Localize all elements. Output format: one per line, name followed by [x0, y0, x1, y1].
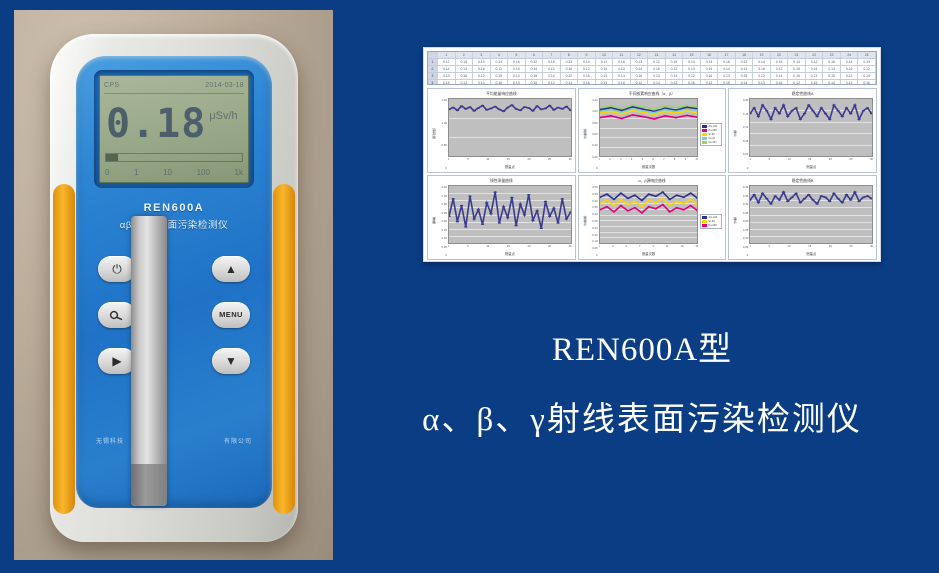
chart-data-point	[565, 106, 568, 108]
chart-data-point	[464, 226, 467, 228]
table-cell[interactable]: 0.16	[683, 80, 701, 85]
table-cell[interactable]: 0.13	[561, 59, 579, 65]
table-cell[interactable]: 0.12	[701, 80, 719, 85]
chart-plot-wrap: 151015202530测量点	[448, 98, 572, 170]
table-row[interactable]: 40.150.120.140.160.130.150.120.140.160.1…	[428, 80, 876, 85]
table-cell[interactable]: 0.14	[683, 59, 701, 65]
table-cell[interactable]: 0.16	[718, 59, 736, 65]
table-cell[interactable]: 0.12	[858, 66, 876, 72]
chart-legend-item: Sr-90	[702, 133, 720, 136]
chart-data-point	[620, 111, 623, 113]
chart-series-line	[449, 105, 571, 111]
chart-data-point	[837, 198, 840, 200]
table-header-cell[interactable]: 4	[491, 52, 509, 58]
chart-data-point	[795, 193, 798, 195]
hand-strap	[131, 216, 167, 506]
chart-data-point	[807, 104, 810, 106]
chart-y-tick: 0.10	[437, 236, 447, 240]
chart-data-point	[782, 191, 785, 193]
table-cell[interactable]: 0.14	[858, 73, 876, 79]
chart-series-line	[750, 105, 872, 119]
chart-series-layer	[750, 186, 872, 243]
table-cell[interactable]: 0.14	[718, 66, 736, 72]
table-cell[interactable]: 0.13	[456, 66, 474, 72]
chart-data-point	[605, 206, 608, 208]
table-header-cell[interactable]: 8	[561, 52, 579, 58]
chart-data-point	[778, 113, 781, 115]
chart-data-point	[548, 215, 551, 217]
table-header-cell[interactable]: 10	[596, 52, 614, 58]
table-cell[interactable]: 4	[428, 80, 438, 85]
chart-data-point	[854, 191, 857, 193]
table-cell[interactable]: 0.13	[596, 80, 614, 85]
chart-data-point	[833, 104, 836, 106]
chart-y-ticks: 1.201.000.800	[437, 98, 448, 170]
chart-x-ticks: 151015202530	[448, 157, 572, 164]
chart-data-point	[661, 191, 664, 193]
table-header-cell[interactable]: 24	[841, 52, 859, 58]
table-cell[interactable]: 0.15	[578, 73, 596, 79]
chart-data-point	[569, 211, 571, 213]
chart-data-point	[626, 204, 629, 206]
chart-x-axis-label: 测量次数	[599, 251, 699, 257]
table-cell[interactable]: 0.13	[788, 59, 806, 65]
table-cell[interactable]: 0.13	[543, 66, 561, 72]
table-header-cell[interactable]	[428, 52, 438, 58]
chart-legend: Am-241Pu-239Sr-90Co-60Cs-137	[700, 123, 722, 146]
table-cell[interactable]: 0.15	[771, 59, 789, 65]
chart-data-point	[609, 105, 612, 107]
chart-data-point	[770, 118, 773, 120]
chart-title: 稳定性曲线A	[732, 91, 873, 98]
table-cell[interactable]: 0.14	[473, 80, 491, 85]
chart-legend-label: Pu-239	[708, 224, 716, 227]
chart-body: 计数0.200.160.120.080.040151015202530测量点	[732, 98, 873, 170]
table-cell[interactable]: 0.13	[596, 73, 614, 79]
table-cell[interactable]: 0.14	[648, 80, 666, 85]
table-cell[interactable]: 0.16	[473, 66, 491, 72]
table-cell[interactable]: 0.13	[701, 59, 719, 65]
table-header-cell[interactable]: 13	[648, 52, 666, 58]
table-cell[interactable]: 0.15	[456, 59, 474, 65]
chart-data-point	[514, 108, 517, 110]
chart-linearity[interactable]: 线性测量曲线偏差0.400.350.300.250.200.150.100.05…	[427, 175, 576, 260]
chart-data-point	[460, 105, 463, 107]
table-cell[interactable]: 0.13	[858, 59, 876, 65]
table-cell[interactable]: 0.12	[666, 66, 684, 72]
lcd-scale-tick: 100	[197, 168, 210, 177]
table-cell[interactable]: 0.16	[788, 73, 806, 79]
chart-data-point	[451, 198, 454, 200]
chart-gridline	[600, 243, 698, 244]
model-title: REN600A型	[352, 322, 932, 370]
chart-data-point	[674, 107, 677, 109]
chart-data-point	[556, 107, 559, 109]
table-cell[interactable]: 0.15	[701, 66, 719, 72]
table-cell[interactable]: 0.13	[438, 73, 456, 79]
chart-data-point	[653, 112, 656, 114]
table-cell[interactable]: 0.12	[753, 73, 771, 79]
search-icon	[109, 310, 125, 321]
table-cell[interactable]: 0.12	[648, 59, 666, 65]
table-cell[interactable]: 0.14	[806, 66, 824, 72]
chart-data-point	[489, 108, 492, 110]
chart-data-point	[786, 116, 789, 118]
chart-multi-nuclide[interactable]: 不同核素响应曲线（α、β）计数率1.201.000.800.600.400.20…	[578, 88, 727, 173]
table-header-cell[interactable]: 2	[456, 52, 474, 58]
table-cell[interactable]: 0.13	[806, 73, 824, 79]
chart-data-point	[824, 113, 827, 115]
table-cell[interactable]: 0.16	[823, 59, 841, 65]
table-cell[interactable]: 0.11	[596, 59, 614, 65]
table-header-cell[interactable]: 23	[823, 52, 841, 58]
chart-data-point	[540, 227, 543, 229]
table-cell[interactable]: 0.15	[736, 73, 754, 79]
table-cell[interactable]: 0.14	[736, 80, 754, 85]
chart-data-point	[668, 211, 671, 213]
chart-data-point	[620, 108, 623, 110]
chart-data-point	[841, 202, 844, 204]
chart-data-point	[799, 118, 802, 120]
table-header-cell[interactable]: 20	[771, 52, 789, 58]
table-cell[interactable]: 0.15	[806, 80, 824, 85]
chart-legend-item: Co-60	[702, 137, 720, 140]
chart-series-layer	[600, 186, 698, 243]
chart-stability-b[interactable]: 稳定性曲线B计数0.400.350.300.250.200.150.100.05…	[728, 175, 877, 260]
chart-data-point	[460, 205, 463, 207]
chart-series-layer	[750, 99, 872, 156]
chart-data-point	[485, 109, 488, 111]
table-cell[interactable]: 0.13	[473, 59, 491, 65]
chart-data-point	[609, 115, 612, 117]
table-cell[interactable]: 0.12	[631, 80, 649, 85]
chart-data-point	[531, 219, 534, 221]
table-cell[interactable]: 0.12	[491, 66, 509, 72]
chart-legend-item: Pu-239	[702, 129, 720, 132]
table-cell[interactable]: 0.15	[788, 66, 806, 72]
table-cell[interactable]: 0.16	[613, 59, 631, 65]
chart-y-tick: 0.05	[437, 245, 447, 249]
table-cell[interactable]: 0.12	[736, 59, 754, 65]
table-header-cell[interactable]: 25	[858, 52, 876, 58]
table-cell[interactable]: 0.15	[823, 73, 841, 79]
chart-data-point	[451, 107, 454, 109]
chart-data-point	[849, 199, 852, 201]
table-cell[interactable]: 0.12	[841, 73, 859, 79]
chart-y-axis-label: 偏差	[431, 185, 437, 257]
chart-x-axis-label: 测量点	[749, 164, 873, 170]
chart-data-point	[689, 192, 692, 194]
table-cell[interactable]: 0.14	[561, 80, 579, 85]
table-row[interactable]: 10.120.150.130.140.160.120.150.130.140.1…	[428, 59, 876, 66]
table-cell[interactable]: 0.12	[578, 66, 596, 72]
chart-y-tick: 0.16	[738, 112, 748, 116]
chart-y-tick: 0.20	[588, 155, 598, 159]
table-header-cell[interactable]: 6	[526, 52, 544, 58]
chart-y-tick: 1.00	[437, 121, 447, 125]
chart-data-point	[544, 201, 547, 203]
chart-series-layer	[600, 99, 698, 156]
chart-title: 平均能量响应曲线	[431, 91, 572, 98]
table-cell[interactable]: 0.15	[543, 59, 561, 65]
table-cell[interactable]: 0.14	[666, 73, 684, 79]
chart-data-point	[786, 200, 789, 202]
chart-data-point	[791, 110, 794, 112]
chart-data-point	[493, 106, 496, 108]
chart-data-point	[498, 109, 501, 111]
table-cell[interactable]: 0.12	[456, 80, 474, 85]
chart-y-ticks: 0.400.350.300.250.200.150.100.050	[738, 185, 749, 257]
table-row[interactable]: 20.140.130.160.120.150.140.130.160.120.1…	[428, 66, 876, 73]
chart-data-point	[803, 113, 806, 115]
chart-data-point	[674, 117, 677, 119]
chart-y-tick: 0.35	[588, 205, 598, 209]
table-cell[interactable]: 0.13	[631, 59, 649, 65]
table-cell[interactable]: 0.15	[526, 80, 544, 85]
table-header-cell[interactable]: 17	[718, 52, 736, 58]
table-cell[interactable]: 0.14	[771, 73, 789, 79]
table-cell[interactable]: 0.16	[456, 73, 474, 79]
chart-data-point	[609, 111, 612, 113]
table-row[interactable]: 1234567891011121314151617181920212223242…	[428, 52, 876, 59]
chart-data-point	[519, 203, 522, 205]
chart-x-axis-label: 测量点	[448, 164, 572, 170]
table-cell[interactable]: 0.13	[841, 80, 859, 85]
chart-series-line	[750, 192, 872, 204]
chart-data-point	[845, 107, 848, 109]
chart-x-ticks: 151015202530	[448, 244, 572, 251]
chart-y-tick: 0.35	[738, 194, 748, 198]
table-cell[interactable]: 0.12	[561, 73, 579, 79]
chart-y-tick: 0	[588, 253, 598, 257]
chart-data-point	[761, 104, 764, 106]
chart-x-axis-label: 测量点	[749, 251, 873, 257]
chart-data-point	[674, 112, 677, 114]
table-cell[interactable]: 0.14	[753, 59, 771, 65]
chart-body: 偏差0.400.350.300.250.200.150.100.05015101…	[431, 185, 572, 257]
chart-series-layer	[449, 99, 571, 156]
table-cell[interactable]: 0.15	[613, 80, 631, 85]
chart-data-point	[647, 193, 650, 195]
table-row[interactable]: 30.130.160.120.150.130.160.140.120.150.1…	[428, 73, 876, 80]
table-header-cell[interactable]: 12	[631, 52, 649, 58]
chart-plot-area	[749, 185, 873, 244]
table-cell[interactable]: 0.12	[683, 73, 701, 79]
chart-data-point	[456, 221, 459, 223]
chart-data-point	[791, 197, 794, 199]
chart-energy-response[interactable]: 平均能量响应曲线响应值1.201.000.800151015202530测量点	[427, 88, 576, 173]
table-cell[interactable]: 0.12	[438, 59, 456, 65]
chart-data-point	[548, 105, 551, 107]
table-cell[interactable]: 0.14	[491, 59, 509, 65]
chart-data-point	[519, 110, 522, 112]
chart-y-ticks: 0.500.450.400.350.300.250.200.150.100.05…	[588, 185, 599, 257]
chart-data-point	[774, 107, 777, 109]
table-cell[interactable]: 0.13	[683, 66, 701, 72]
chart-y-tick: 0.10	[738, 236, 748, 240]
table-header-cell[interactable]: 21	[788, 52, 806, 58]
chart-data-point	[689, 205, 692, 207]
table-cell[interactable]: 0.16	[858, 80, 876, 85]
table-cell[interactable]: 0.16	[526, 73, 544, 79]
table-cell[interactable]: 0.13	[718, 73, 736, 79]
table-cell[interactable]: 0.16	[648, 66, 666, 72]
chart-data-point	[685, 107, 688, 109]
chart-x-ticks: 12345678910	[599, 157, 699, 164]
table-cell[interactable]: 0.16	[841, 66, 859, 72]
chart-data-point	[765, 110, 768, 112]
table-cell[interactable]: 0.13	[666, 80, 684, 85]
chart-y-tick: 0.20	[738, 219, 748, 223]
table-cell[interactable]: 0.14	[578, 59, 596, 65]
chart-data-point	[619, 192, 622, 194]
table-header-cell[interactable]: 7	[543, 52, 561, 58]
table-cell[interactable]: 0.12	[771, 66, 789, 72]
table-header-cell[interactable]: 16	[701, 52, 719, 58]
chart-y-ticks: 0.400.350.300.250.200.150.100.050	[437, 185, 448, 257]
chart-data-point	[640, 212, 643, 214]
chart-data-point	[685, 108, 688, 110]
chart-legend-swatch	[702, 133, 707, 136]
chart-data-point	[540, 109, 543, 111]
table-cell[interactable]: 0.16	[701, 73, 719, 79]
chart-stability-a[interactable]: 稳定性曲线A计数0.200.160.120.080.04015101520253…	[728, 88, 877, 173]
chart-data-point	[866, 107, 869, 109]
chart-data-point	[642, 108, 645, 110]
table-cell[interactable]: 0.14	[543, 73, 561, 79]
chart-data-point	[612, 199, 615, 201]
table-cell[interactable]: 0.15	[666, 59, 684, 65]
chart-data-point	[631, 110, 634, 112]
chart-data-point	[765, 198, 768, 200]
table-cell[interactable]: 0.13	[648, 73, 666, 79]
table-cell[interactable]: 2	[428, 66, 438, 72]
chart-data-point	[506, 107, 509, 109]
chart-legend-swatch	[702, 141, 707, 144]
chart-data-point	[654, 208, 657, 210]
table-header-cell[interactable]: 22	[806, 52, 824, 58]
table-cell[interactable]: 0.16	[508, 59, 526, 65]
table-header-cell[interactable]: 5	[508, 52, 526, 58]
device-photo: CPS 2014-03-18 0.18 μSv/h 0	[14, 10, 333, 560]
table-header-cell[interactable]: 19	[753, 52, 771, 58]
chart-legend: Am-241Sr-90Pu-239	[700, 214, 722, 229]
table-cell[interactable]: 0.14	[526, 66, 544, 72]
table-header-cell[interactable]: 15	[683, 52, 701, 58]
down-button[interactable]: ▼	[212, 348, 250, 374]
table-cell[interactable]: 0.12	[543, 80, 561, 85]
table-cell[interactable]: 0.16	[491, 80, 509, 85]
table-cell[interactable]: 0.16	[578, 80, 596, 85]
table-cell[interactable]: 1	[428, 59, 438, 65]
data-table[interactable]: 1234567891011121314151617181920212223242…	[427, 51, 877, 85]
chart-data-point	[609, 107, 612, 109]
table-cell[interactable]: 0.13	[823, 66, 841, 72]
chart-y-ticks: 1.201.000.800.600.400.200	[588, 98, 599, 170]
chart-data-point	[753, 194, 756, 196]
chart-alpha-beta-response[interactable]: α、β源响应曲线计数率0.500.450.400.350.300.250.200…	[578, 175, 727, 260]
table-header-cell[interactable]: 11	[613, 52, 631, 58]
table-cell[interactable]: 0.13	[613, 66, 631, 72]
table-cell[interactable]: 0.16	[631, 73, 649, 79]
chart-y-axis-label: 计数	[732, 185, 738, 257]
chart-data-point	[653, 114, 656, 116]
table-cell[interactable]: 0.14	[438, 66, 456, 72]
table-cell[interactable]: 0.12	[526, 59, 544, 65]
chart-data-point	[849, 113, 852, 115]
chart-data-point	[561, 108, 564, 110]
table-cell[interactable]: 0.12	[788, 80, 806, 85]
table-cell[interactable]: 0.14	[841, 59, 859, 65]
chart-data-point	[605, 193, 608, 195]
chart-plot-wrap: 12345678910测量次数	[599, 98, 699, 170]
table-header-cell[interactable]: 3	[473, 52, 491, 58]
chart-data-point	[527, 107, 530, 109]
chart-y-tick: 0.20	[588, 226, 598, 230]
chart-body: 计数0.400.350.300.250.200.150.100.05015101…	[732, 185, 873, 257]
table-header-cell[interactable]: 1	[438, 52, 456, 58]
chart-legend-label: Am-241	[708, 125, 717, 128]
chart-y-tick: 0.35	[437, 194, 447, 198]
table-cell[interactable]: 0.15	[718, 80, 736, 85]
table-cell[interactable]: 0.12	[473, 73, 491, 79]
table-cell[interactable]: 3	[428, 73, 438, 79]
chart-data-point	[642, 110, 645, 112]
lcd-reading: 0.18 μSv/h	[106, 96, 244, 152]
front-panel: CPS 2014-03-18 0.18 μSv/h 0	[76, 56, 272, 508]
table-cell[interactable]: 0.16	[561, 66, 579, 72]
chart-data-point	[663, 105, 666, 107]
chart-y-tick: 0.15	[588, 233, 598, 237]
menu-button[interactable]: MENU	[212, 302, 250, 328]
chart-data-point	[620, 118, 623, 120]
chart-data-point	[612, 211, 615, 213]
chart-data-point	[750, 113, 752, 115]
chart-data-point	[477, 107, 480, 109]
table-header-cell[interactable]: 9	[578, 52, 596, 58]
chart-data-point	[640, 200, 643, 202]
up-button[interactable]: ▲	[212, 256, 250, 282]
table-cell[interactable]: 0.15	[438, 80, 456, 85]
table-cell[interactable]: 0.14	[823, 80, 841, 85]
chart-data-point	[675, 201, 678, 203]
table-cell[interactable]: 0.13	[736, 66, 754, 72]
chart-data-point	[626, 210, 629, 212]
chart-y-tick: 0	[738, 166, 748, 170]
table-cell[interactable]: 0.16	[771, 80, 789, 85]
table-cell[interactable]: 0.15	[596, 66, 614, 72]
chart-y-axis-label: 计数率	[582, 185, 588, 257]
chart-data-point	[870, 113, 872, 115]
table-cell[interactable]: 0.13	[753, 80, 771, 85]
chart-data-point	[647, 200, 650, 202]
table-cell[interactable]: 0.14	[631, 66, 649, 72]
table-cell[interactable]: 0.13	[508, 73, 526, 79]
table-cell[interactable]: 0.15	[508, 66, 526, 72]
table-header-cell[interactable]: 14	[666, 52, 684, 58]
table-header-cell[interactable]: 18	[736, 52, 754, 58]
table-cell[interactable]: 0.12	[806, 59, 824, 65]
table-cell[interactable]: 0.14	[613, 73, 631, 79]
chart-y-tick: 0.15	[738, 228, 748, 232]
chart-data-point	[631, 106, 634, 108]
table-cell[interactable]: 0.16	[753, 66, 771, 72]
table-cell[interactable]: 0.13	[508, 80, 526, 85]
table-cell[interactable]: 0.15	[491, 73, 509, 79]
chart-data-point	[506, 217, 509, 219]
chart-data-point	[640, 206, 643, 208]
chart-data-point	[633, 201, 636, 203]
